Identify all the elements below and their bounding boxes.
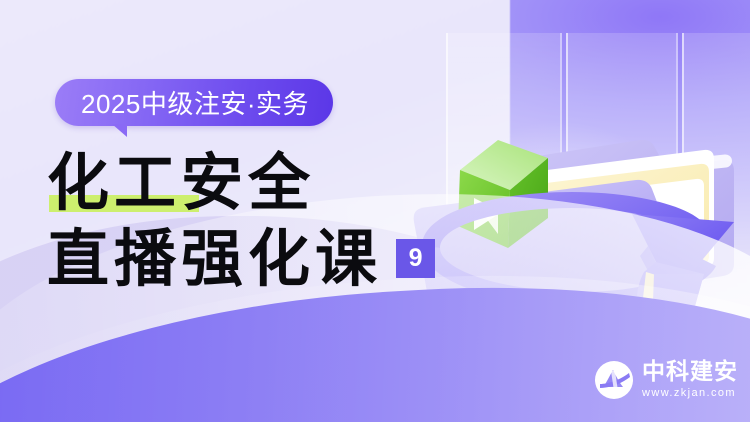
course-poster: 2025中级注安·实务 化工安全 直播强化课9 中科建安 www.zkjan.c… — [0, 0, 750, 422]
episode-number-badge: 9 — [396, 239, 435, 278]
headline-line-1: 化工安全 — [47, 146, 315, 219]
brand-logo: 中科建安 www.zkjan.com — [594, 360, 738, 400]
course-tag-tail — [99, 124, 127, 137]
brand-url: www.zkjan.com — [642, 388, 738, 399]
mountain-peak-circle-icon — [594, 360, 634, 400]
course-tag-badge: 2025中级注安·实务 — [55, 79, 333, 126]
headline-line-2-row: 直播强化课9 — [47, 228, 435, 290]
course-tag-label: 2025中级注安·实务 — [81, 84, 309, 121]
headline-line-2: 直播强化课 — [47, 222, 382, 295]
brand-logo-text: 中科建安 www.zkjan.com — [642, 361, 738, 399]
headline-block: 化工安全 直播强化课9 — [47, 152, 435, 290]
headline-line-1-row: 化工安全 — [47, 152, 435, 214]
brand-name: 中科建安 — [642, 361, 738, 384]
